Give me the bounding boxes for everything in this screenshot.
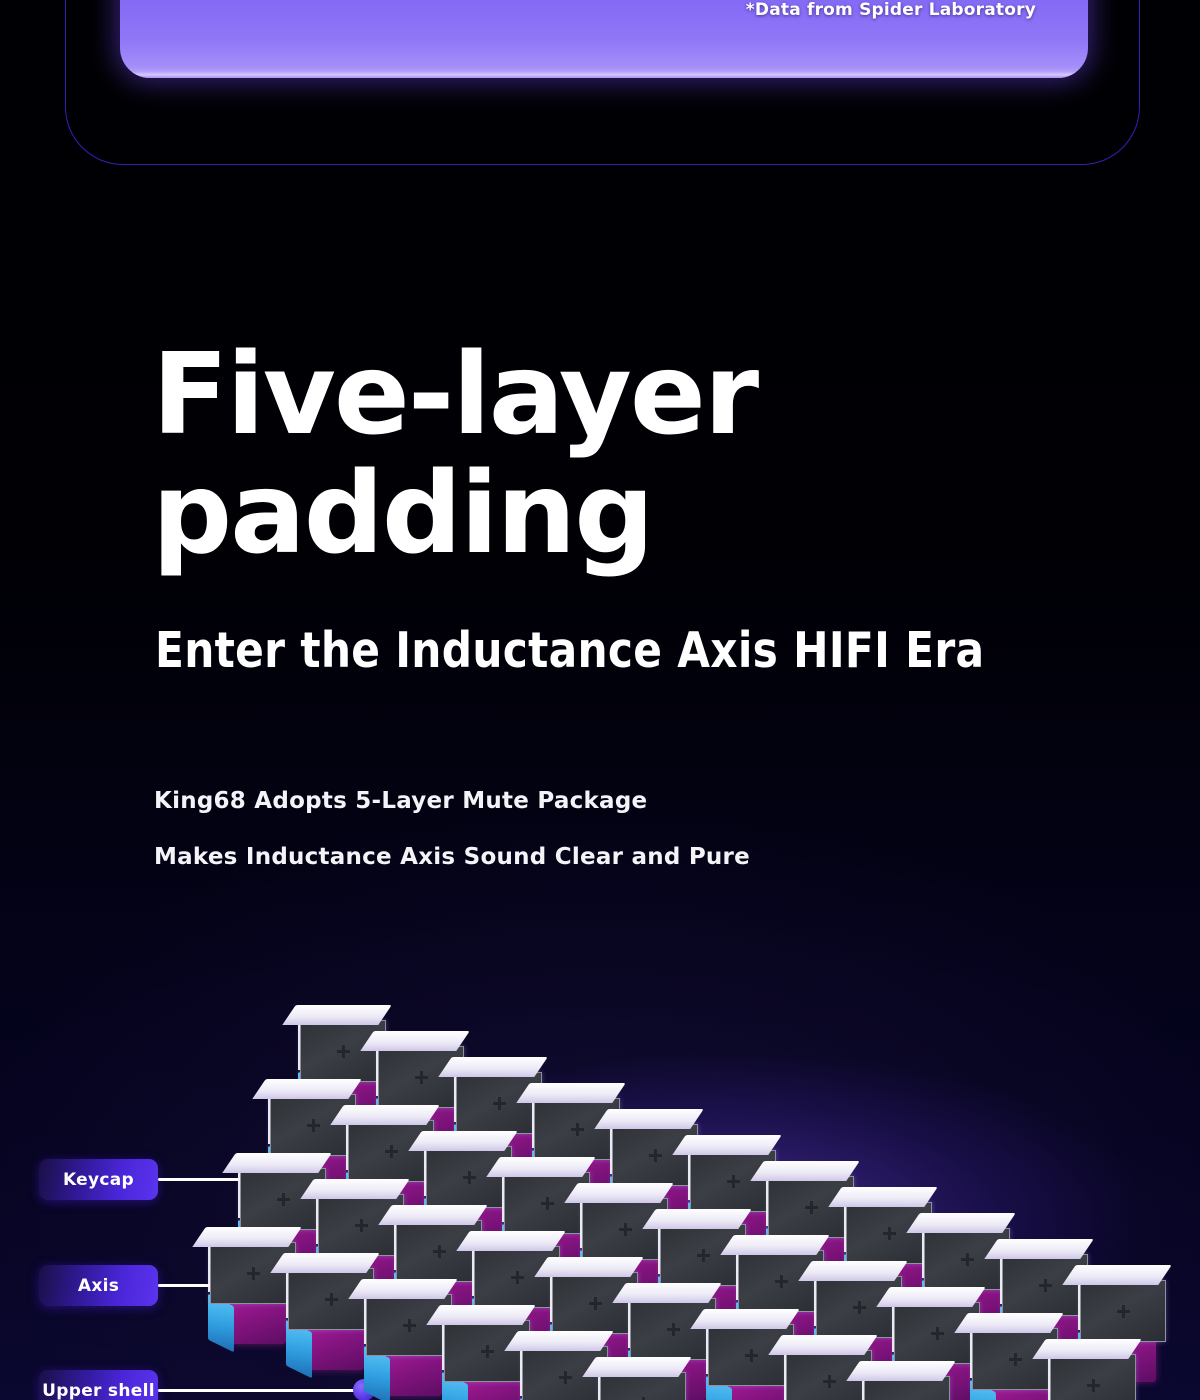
top-purple-panel: *Data from Spider Laboratory: [120, 0, 1088, 78]
keycap: [924, 1228, 1010, 1290]
callout-label: Axis: [78, 1276, 119, 1296]
keycap: [972, 1328, 1058, 1390]
keycap: [600, 1372, 686, 1400]
headline-line-1: Five-layer: [152, 330, 757, 460]
keycap: [456, 1072, 542, 1134]
keycap: [240, 1168, 326, 1230]
keycap: [318, 1194, 404, 1256]
keycap: [210, 1242, 296, 1304]
headline-line-2: padding: [152, 455, 912, 574]
keycap: [378, 1046, 464, 1108]
body-text-line-2: Makes Inductance Axis Sound Clear and Pu…: [154, 844, 750, 870]
callout-label: Keycap: [63, 1170, 134, 1190]
keycap: [534, 1098, 620, 1160]
keycap: [504, 1172, 590, 1234]
keycap: [894, 1302, 980, 1364]
product-marketing-page: *Data from Spider Laboratory Five-layer …: [0, 0, 1200, 1400]
keycap: [846, 1202, 932, 1264]
page-title: Five-layer padding: [152, 336, 912, 573]
keycap: [1050, 1354, 1136, 1400]
callout-pill[interactable]: Upper shell: [39, 1370, 158, 1400]
keycap: [396, 1220, 482, 1282]
keycap: [1002, 1254, 1088, 1316]
keycap: [288, 1268, 374, 1330]
keycap: [708, 1324, 794, 1386]
keycap: [864, 1376, 950, 1400]
keycap: [738, 1250, 824, 1312]
keycap: [366, 1294, 452, 1356]
keycap: [582, 1198, 668, 1260]
leader-line: [158, 1389, 365, 1392]
keycap: [612, 1124, 698, 1186]
keycap: [816, 1276, 902, 1338]
keycap: [270, 1094, 356, 1156]
keycap: [768, 1176, 854, 1238]
keycap: [660, 1224, 746, 1286]
callout-pill[interactable]: Axis: [39, 1265, 158, 1306]
body-text-line-1: King68 Adopts 5-Layer Mute Package: [154, 788, 647, 814]
callout-label: Upper shell: [42, 1381, 155, 1400]
keycap: [474, 1246, 560, 1308]
keycap: [426, 1146, 512, 1208]
callout-pill[interactable]: Keycap: [39, 1159, 158, 1200]
keycap: [300, 1020, 386, 1082]
keycap: [690, 1150, 776, 1212]
keycap: [630, 1298, 716, 1360]
keycap: [552, 1272, 638, 1334]
keycap: [444, 1320, 530, 1382]
keycap: [348, 1120, 434, 1182]
data-source-note: *Data from Spider Laboratory: [746, 0, 1036, 20]
keycap: [1080, 1280, 1166, 1342]
page-subtitle: Enter the Inductance Axis HIFI Era: [155, 622, 984, 679]
